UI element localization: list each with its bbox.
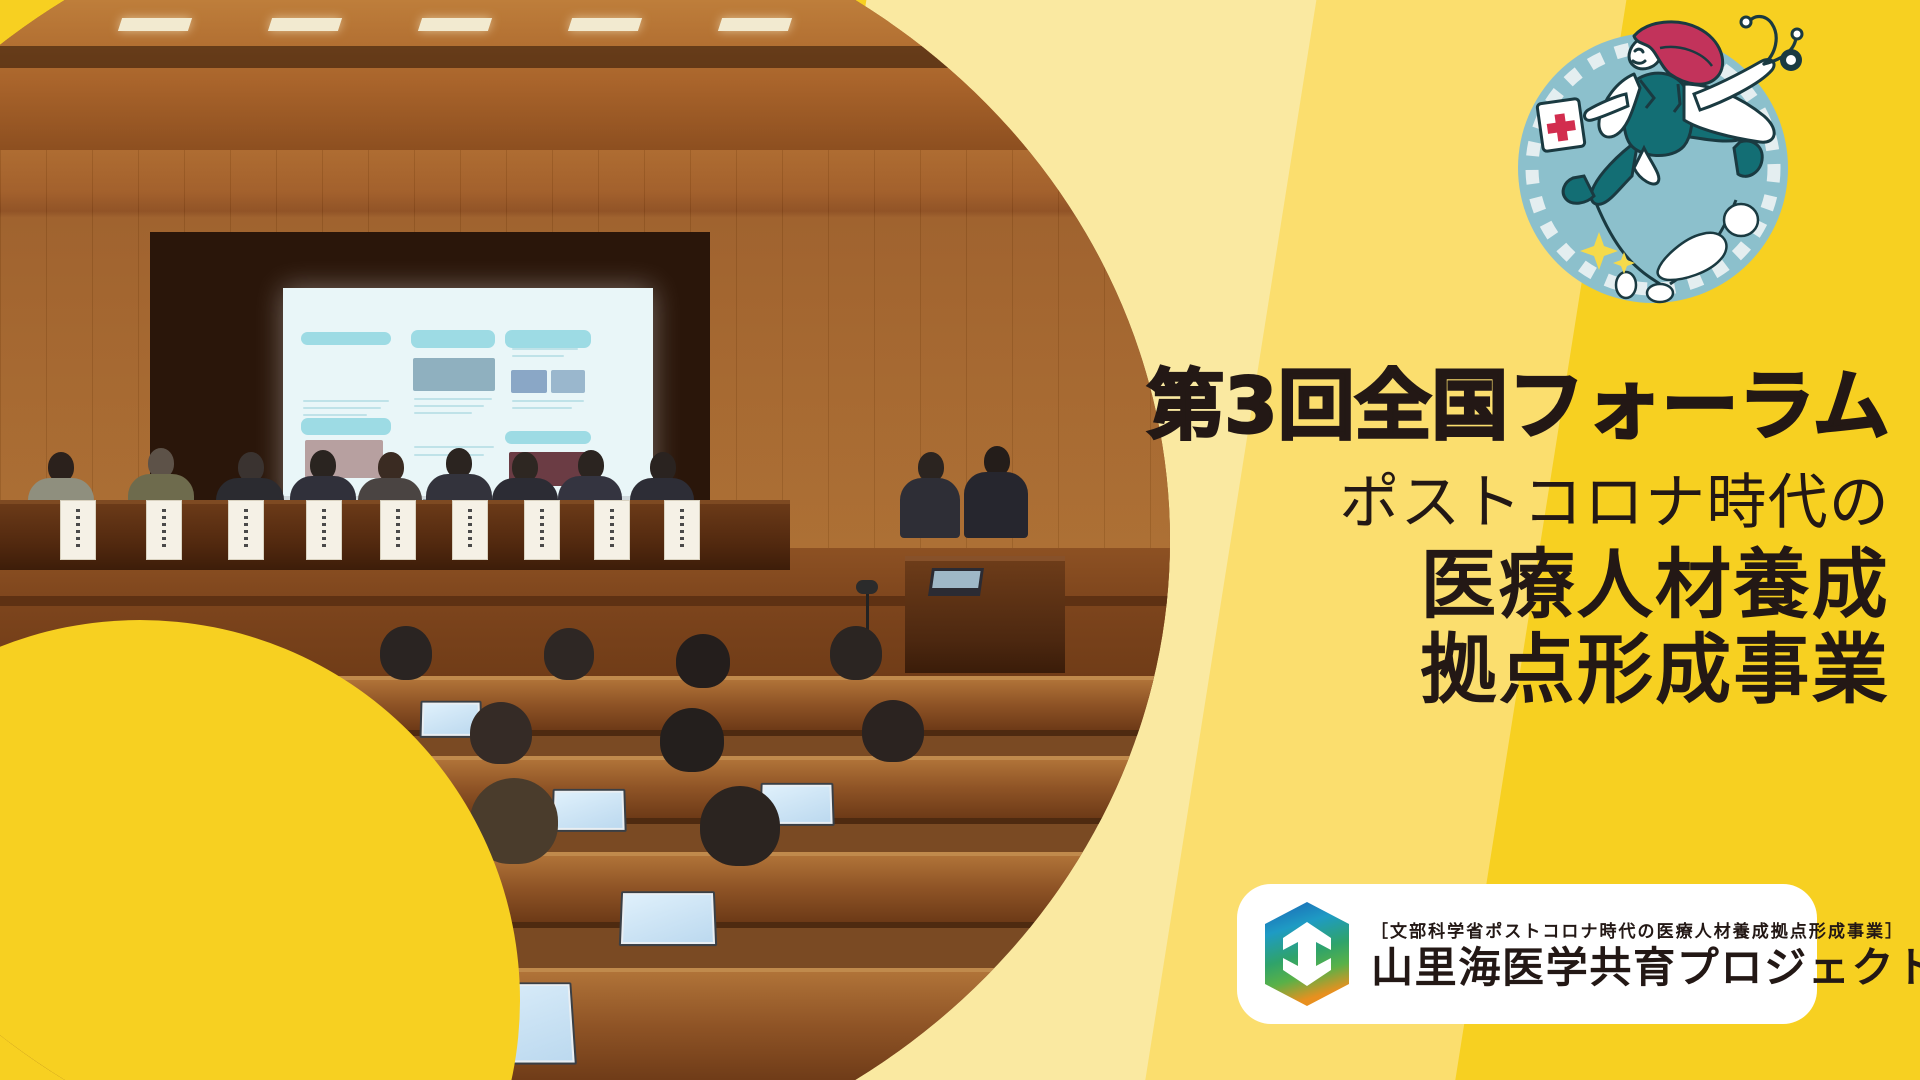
project-logo-kicker: ［文部科学省ポストコロナ時代の医療人材養成拠点形成事業］	[1371, 917, 1920, 942]
forum-hall-photograph	[0, 0, 1170, 1080]
ceiling-lights	[120, 18, 1020, 40]
project-logo-plate: ［文部科学省ポストコロナ時代の医療人材養成拠点形成事業］ 山里海医学共育プロジェ…	[1237, 884, 1817, 1024]
headline-big-line-2: 拠点形成事業	[1130, 627, 1890, 712]
project-logo-text: ［文部科学省ポストコロナ時代の医療人材養成拠点形成事業］ 山里海医学共育プロジェ…	[1371, 917, 1920, 990]
headline-sub: ポストコロナ時代の	[1130, 466, 1890, 542]
project-logo-name: 山里海医学共育プロジェクト	[1371, 946, 1920, 990]
headline-big-line-1: 医療人材養成	[1130, 542, 1890, 627]
headline-block: 第3回全国フォーラム ポストコロナ時代の 医療人材養成 拠点形成事業	[1130, 368, 1890, 712]
sanrikai-hexagon-logo-mark	[1261, 900, 1353, 1008]
photo-inner	[0, 0, 1170, 1080]
headline-main: 第3回全国フォーラム	[1130, 368, 1890, 444]
ceiling-shadow-band	[0, 46, 1170, 68]
podium	[905, 556, 1065, 673]
running-doctor-illustration	[1488, 0, 1818, 318]
microphone-icon	[856, 580, 878, 594]
podium-laptop	[928, 568, 984, 596]
poster-canvas: 第3回全国フォーラム ポストコロナ時代の 医療人材養成 拠点形成事業	[0, 0, 1920, 1080]
